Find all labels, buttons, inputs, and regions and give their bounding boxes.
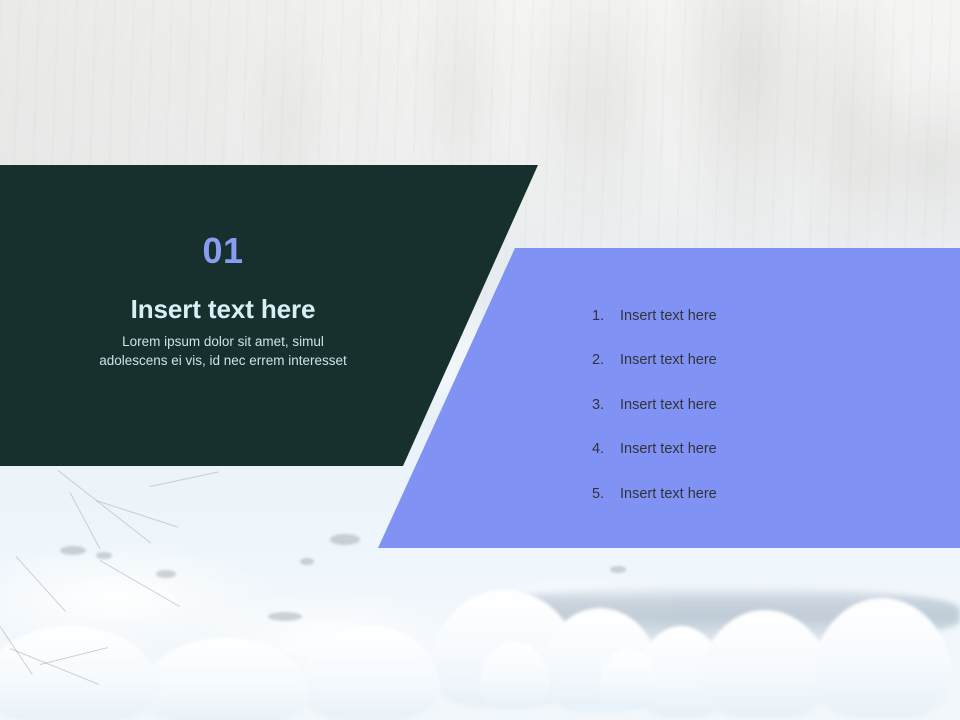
snow-speck: [610, 566, 626, 573]
list-item-label: Insert text here: [620, 441, 717, 458]
list-item-number: 4.: [592, 441, 620, 458]
slide-canvas: 01 Insert text here Lorem ipsum dolor si…: [0, 0, 960, 720]
list-item-number: 5.: [592, 486, 620, 503]
list-item-label: Insert text here: [620, 486, 717, 503]
snow-speck: [300, 558, 314, 565]
snow-mound: [0, 626, 160, 720]
section-number: 01: [88, 233, 358, 269]
dark-panel-content: 01 Insert text here Lorem ipsum dolor si…: [88, 233, 358, 371]
snow-speck: [156, 570, 176, 578]
list-item[interactable]: 3. Insert text here: [592, 397, 717, 414]
snow-speck: [96, 552, 112, 559]
snow-speck: [268, 612, 302, 621]
numbered-list: 1. Insert text here 2. Insert text here …: [592, 308, 717, 503]
list-item-label: Insert text here: [620, 308, 717, 325]
list-item[interactable]: 2. Insert text here: [592, 352, 717, 369]
list-item-number: 2.: [592, 352, 620, 369]
snow-speck: [330, 534, 360, 545]
list-item-number: 1.: [592, 308, 620, 325]
list-item[interactable]: 5. Insert text here: [592, 486, 717, 503]
section-heading[interactable]: Insert text here: [88, 295, 358, 324]
snow-mound: [140, 638, 310, 720]
list-item-label: Insert text here: [620, 397, 717, 414]
snow-mound: [300, 626, 440, 720]
list-item-number: 3.: [592, 397, 620, 414]
list-item-label: Insert text here: [620, 352, 717, 369]
snow-speck: [60, 546, 86, 555]
section-body-text[interactable]: Lorem ipsum dolor sit amet, simul adoles…: [88, 332, 358, 371]
list-item[interactable]: 1. Insert text here: [592, 308, 717, 325]
list-item[interactable]: 4. Insert text here: [592, 441, 717, 458]
